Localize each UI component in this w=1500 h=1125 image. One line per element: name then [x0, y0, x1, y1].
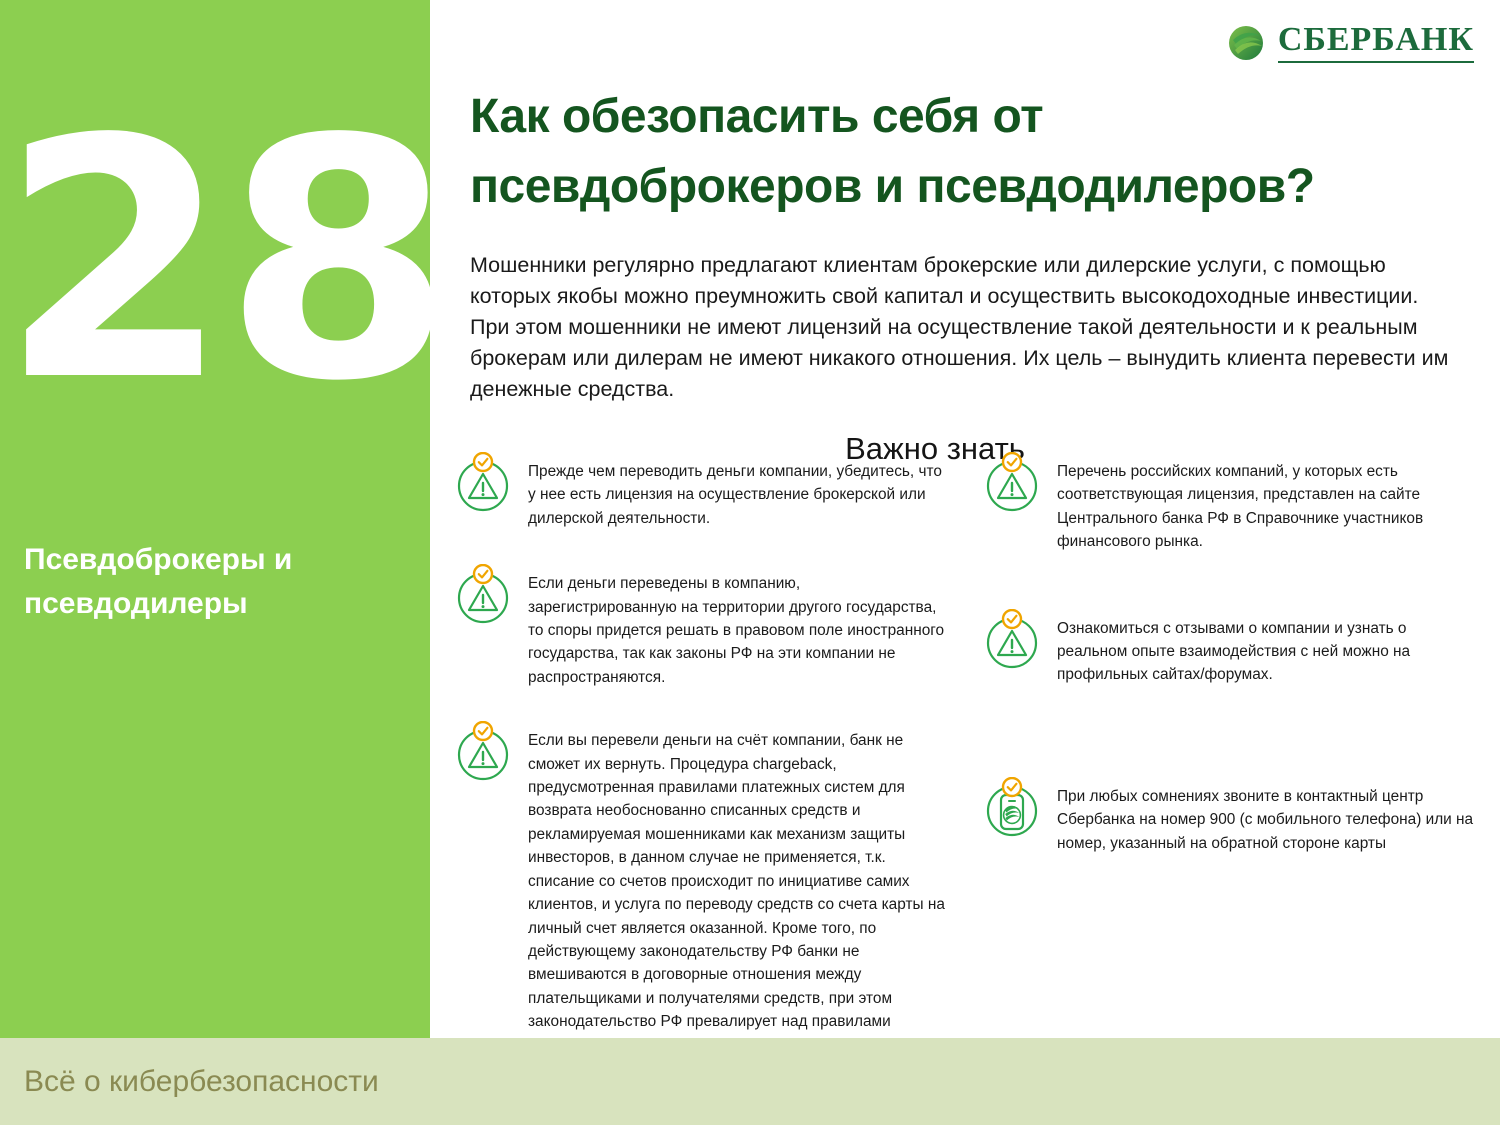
- warning-triangle-check-icon: [456, 564, 512, 626]
- tip-text: При любых сомнениях звоните в контактный…: [1057, 775, 1476, 855]
- sidebar-caption: Псевдоброкеры и псевдодилеры: [24, 538, 414, 626]
- warning-triangle-check-icon: [985, 609, 1041, 671]
- slide-number: 28: [0, 96, 430, 426]
- page-title: Как обезопасить себя от псевдоброкеров и…: [470, 0, 1430, 222]
- tip-item: Если вы перевели деньги на счёт компании…: [456, 719, 947, 1057]
- main-content: Как обезопасить себя от псевдоброкеров и…: [470, 0, 1470, 1038]
- footer-bar: Всё о кибербезопасности: [0, 1038, 1500, 1125]
- tip-text: Если деньги переведены в компанию, зарег…: [528, 562, 947, 689]
- phone-sberbank-check-icon: [985, 777, 1041, 839]
- tips-column-left: Прежде чем переводить деньги компании, у…: [456, 450, 947, 1057]
- tip-text: Ознакомиться с отзывами о компании и узн…: [1057, 607, 1476, 687]
- tip-item: Перечень российских компаний, у которых …: [985, 450, 1476, 554]
- tip-text: Прежде чем переводить деньги компании, у…: [528, 450, 947, 530]
- sidebar-panel: 28 Псевдоброкеры и псевдодилеры: [0, 0, 430, 1038]
- footer-title: Всё о кибербезопасности: [24, 1065, 379, 1099]
- intro-paragraph: Мошенники регулярно предлагают клиентам …: [470, 222, 1455, 405]
- tip-text: Если вы перевели деньги на счёт компании…: [528, 719, 947, 1057]
- warning-triangle-check-icon: [456, 452, 512, 514]
- tip-item: Ознакомиться с отзывами о компании и узн…: [985, 607, 1476, 687]
- warning-triangle-check-icon: [456, 721, 512, 783]
- tip-item: Если деньги переведены в компанию, зарег…: [456, 562, 947, 689]
- tip-text: Перечень российских компаний, у которых …: [1057, 450, 1476, 554]
- tip-item: При любых сомнениях звоните в контактный…: [985, 775, 1476, 855]
- tip-item: Прежде чем переводить деньги компании, у…: [456, 450, 947, 530]
- warning-triangle-check-icon: [985, 452, 1041, 514]
- tips-column-right: Перечень российских компаний, у которых …: [985, 450, 1476, 1057]
- tips-grid: Прежде чем переводить деньги компании, у…: [456, 450, 1476, 1057]
